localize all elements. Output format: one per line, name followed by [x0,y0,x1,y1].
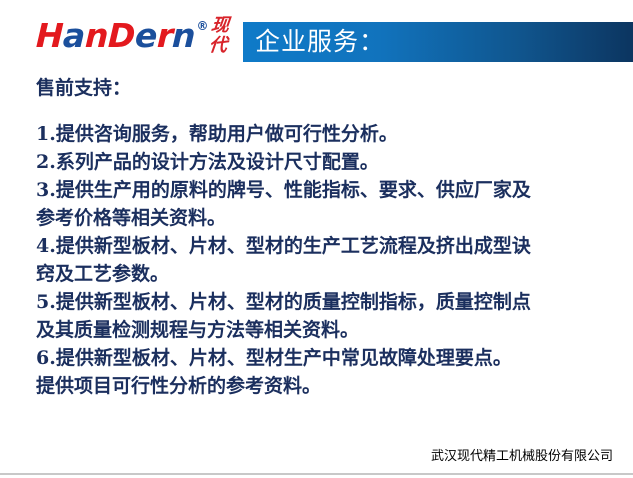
content-line: 3.提供生产用的原料的牌号、性能指标、要求、供应厂家及 [36,176,624,204]
logo-letter-h: H [35,18,63,54]
title-banner: 企业服务： [243,22,633,62]
logo-letter-d: D [107,18,135,54]
slide-header: H a n D e r n ® 现 代 企业服务： [0,0,633,70]
page-title: 企业服务： [255,26,385,58]
logo-letter-a: a [62,18,85,54]
content-line: 2.系列产品的设计方法及设计尺寸配置。 [36,148,624,176]
logo-letter-n1: n [84,18,108,54]
logo-chinese-char-bottom: 代 [208,36,228,56]
logo-chinese-char-top: 现 [210,16,230,36]
slide-canvas: H a n D e r n ® 现 代 企业服务： 售前支持： 1.提供咨询服务… [0,0,633,478]
company-logo: H a n D e r n ® 现 代 [36,18,228,64]
footer-divider [0,473,633,475]
content-line: 参考价格等相关资料。 [36,204,624,232]
logo-letter-n2: n [172,18,196,54]
content-line: 1.提供咨询服务，帮助用户做可行性分析。 [36,120,624,148]
registered-trademark-icon: ® [196,20,208,32]
logo-chinese-mark: 现 代 [208,16,230,56]
content-line: 5.提供新型板材、片材、型材的质量控制指标，质量控制点 [36,288,624,316]
content-line: 窍及工艺参数。 [36,260,624,288]
logo-letter-e: e [134,18,157,54]
footer-company-name: 武汉现代精工机械股份有限公司 [431,448,613,466]
content-line: 及其质量检测规程与方法等相关资料。 [36,316,624,344]
content-body: 售前支持： 1.提供咨询服务，帮助用户做可行性分析。 2.系列产品的设计方法及设… [36,74,624,400]
content-line: 提供项目可行性分析的参考资料。 [36,372,624,400]
spacer [36,102,624,120]
section-heading: 售前支持： [36,74,624,102]
content-line: 4.提供新型板材、片材、型材的生产工艺流程及挤出成型诀 [36,232,624,260]
content-line: 6.提供新型板材、片材、型材生产中常见故障处理要点。 [36,344,624,372]
